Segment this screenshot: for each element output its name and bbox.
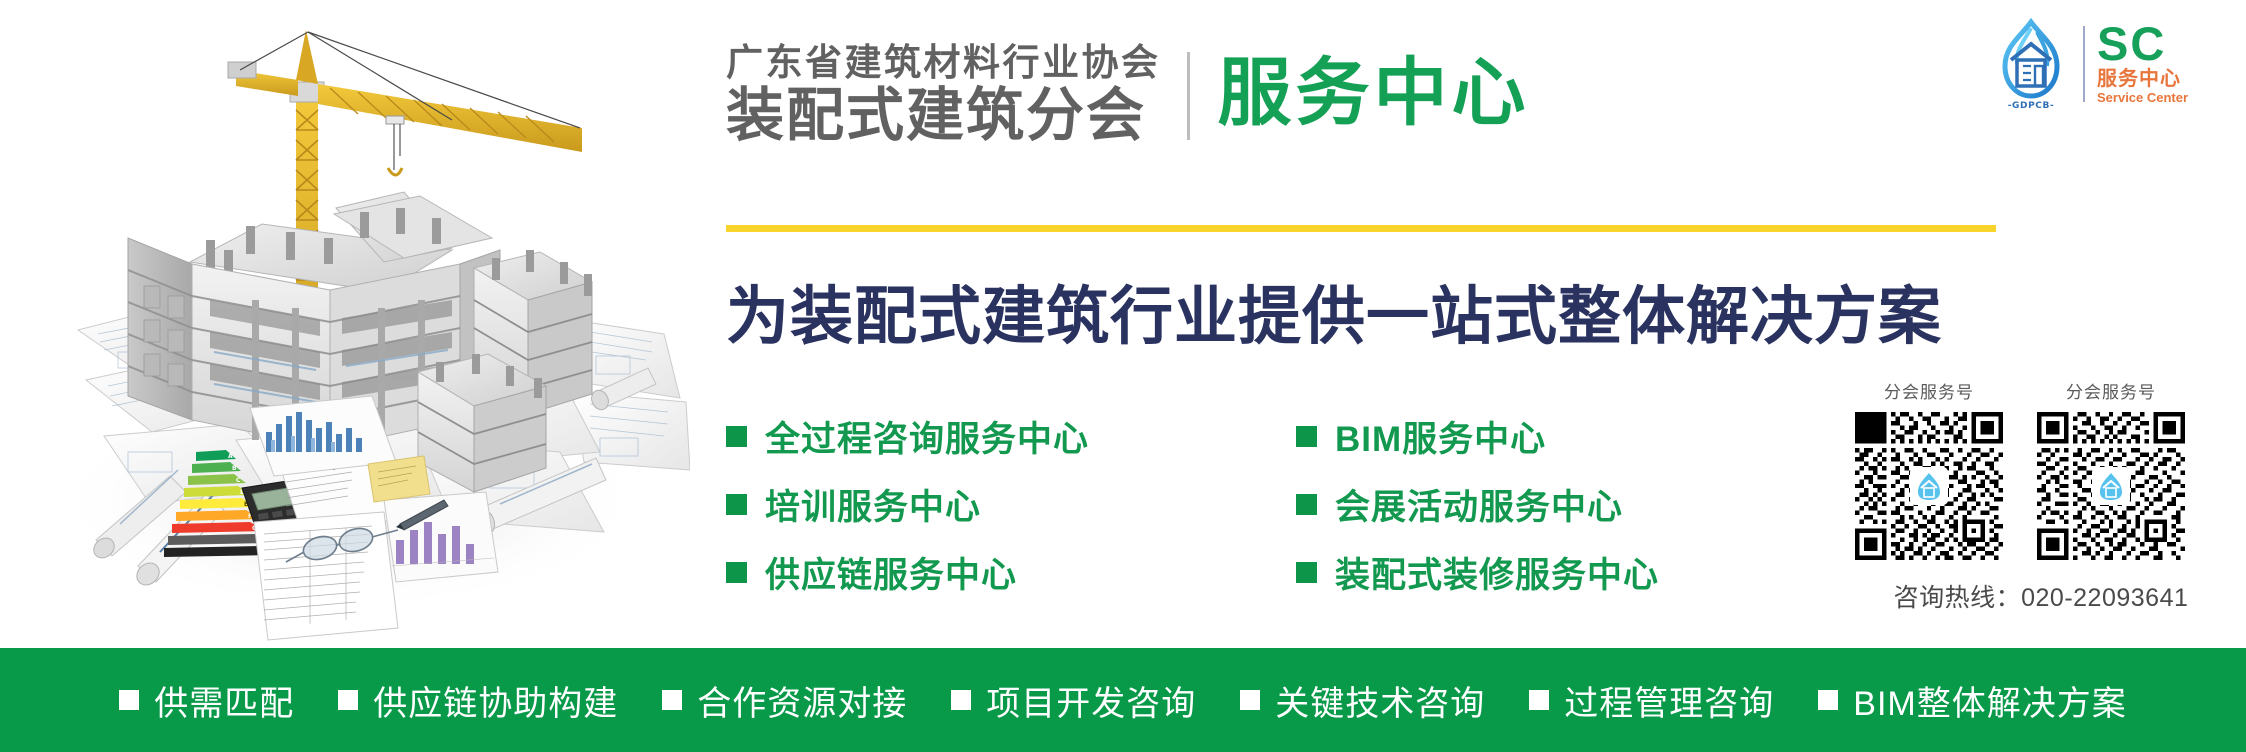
footer-item-label: 项目开发咨询 [986, 676, 1196, 725]
qr-caption: 分会服务号 [2066, 378, 2156, 403]
association-title-block: 广东省建筑材料行业协会 装配式建筑分会 服务中心 [726, 42, 1530, 148]
service-list-left: 全过程咨询服务中心 培训服务中心 供应链服务中心 [726, 402, 1296, 606]
service-item[interactable]: 供应链服务中心 [726, 538, 1296, 606]
logo-divider [2083, 26, 2085, 102]
service-list-right: BIM服务中心 会展活动服务中心 装配式装修服务中心 [1296, 402, 1776, 606]
footer-item[interactable]: 关键技术咨询 [1240, 676, 1485, 725]
qr-code-block[interactable]: 分会服务号 [1855, 378, 2003, 560]
square-bullet-icon [726, 426, 747, 447]
construction-site-illustration: A B C D E F [0, 0, 690, 648]
qr-code-image-2[interactable] [2037, 412, 2185, 560]
qr-caption: 分会服务号 [1884, 378, 1974, 403]
footer-items-row: 供需匹配 供应链协助构建 合作资源对接 项目开发咨询 关键技术咨询 过程管理咨询 [97, 676, 2148, 725]
sc-letters: SC [2097, 22, 2166, 67]
footer-item[interactable]: 供应链协助构建 [338, 676, 618, 725]
yellow-sticky-note [368, 456, 430, 502]
promotional-banner: A B C D E F [0, 0, 2246, 752]
square-bullet-icon [1818, 690, 1838, 710]
association-branch-name: 装配式建筑分会 [726, 85, 1161, 148]
qr-contact-area: 分会服务号 [1855, 378, 2227, 614]
brand-logo-area: -GDPCB- SC 服务中心 Service Center [1985, 14, 2225, 114]
service-item[interactable]: 会展活动服务中心 [1296, 470, 1776, 538]
service-item[interactable]: BIM服务中心 [1296, 402, 1776, 470]
footer-item-label: BIM整体解决方案 [1853, 676, 2126, 725]
service-center-lists: 全过程咨询服务中心 培训服务中心 供应链服务中心 BIM服务中心 会展活动服务中… [726, 402, 1776, 606]
svg-text:B: B [232, 465, 237, 472]
hotline-text: 咨询热线：020-22093641 [1855, 578, 2227, 614]
service-item[interactable]: 全过程咨询服务中心 [726, 402, 1296, 470]
service-item-label: BIM服务中心 [1335, 411, 1546, 462]
square-bullet-icon [662, 690, 682, 710]
square-bullet-icon [1529, 690, 1549, 710]
square-bullet-icon [1296, 562, 1317, 583]
service-item[interactable]: 培训服务中心 [726, 470, 1296, 538]
service-item-label: 供应链服务中心 [765, 547, 1017, 598]
square-bullet-icon [1296, 426, 1317, 447]
svg-text:C: C [236, 477, 241, 484]
footer-item[interactable]: 项目开发咨询 [951, 676, 1196, 725]
footer-item[interactable]: 合作资源对接 [662, 676, 907, 725]
service-item-label: 装配式装修服务中心 [1335, 547, 1659, 598]
qr-code-block[interactable]: 分会服务号 [2037, 378, 2185, 560]
square-bullet-icon [726, 562, 747, 583]
footer-item-label: 过程管理咨询 [1564, 676, 1774, 725]
svg-text:-GDPCB-: -GDPCB- [2008, 101, 2055, 111]
service-item-label: 会展活动服务中心 [1335, 479, 1623, 530]
qr-code-row: 分会服务号 [1855, 378, 2227, 560]
qr-code-image-1[interactable] [1855, 412, 2003, 560]
footer-item[interactable]: 供需匹配 [119, 676, 294, 725]
sc-english-label: Service Center [2097, 91, 2188, 106]
service-item-label: 全过程咨询服务中心 [765, 411, 1089, 462]
footer-item[interactable]: BIM整体解决方案 [1818, 676, 2126, 725]
square-bullet-icon [1296, 494, 1317, 515]
footer-item-label: 供应链协助构建 [373, 676, 618, 725]
service-item[interactable]: 装配式装修服务中心 [1296, 538, 1776, 606]
qr-center-brand-icon [2092, 467, 2130, 505]
title-divider [1187, 52, 1190, 140]
svg-text:A: A [228, 453, 233, 460]
square-bullet-icon [726, 494, 747, 515]
yellow-divider-rule [726, 225, 1996, 232]
square-bullet-icon [1240, 690, 1260, 710]
service-item-label: 培训服务中心 [765, 479, 981, 530]
association-name-line1: 广东省建筑材料行业协会 [726, 42, 1161, 83]
footer-service-bar: 供需匹配 供应链协助构建 合作资源对接 项目开发咨询 关键技术咨询 过程管理咨询 [0, 648, 2246, 752]
association-names: 广东省建筑材料行业协会 装配式建筑分会 [726, 42, 1161, 148]
banner-slogan: 为装配式建筑行业提供一站式整体解决方案 [726, 266, 1942, 357]
footer-item-label: 合作资源对接 [697, 676, 907, 725]
gdpcb-house-flame-logo-icon: -GDPCB- [1985, 16, 2077, 112]
footer-item-label: 供需匹配 [154, 676, 294, 725]
square-bullet-icon [338, 690, 358, 710]
footer-item-label: 关键技术咨询 [1275, 676, 1485, 725]
qr-center-brand-icon [1910, 467, 1948, 505]
sc-chinese-label: 服务中心 [2097, 68, 2181, 91]
sc-service-center-logo: SC 服务中心 Service Center [2097, 22, 2188, 107]
service-center-heading: 服务中心 [1218, 47, 1530, 144]
square-bullet-icon [119, 690, 139, 710]
footer-item[interactable]: 过程管理咨询 [1529, 676, 1774, 725]
square-bullet-icon [951, 690, 971, 710]
